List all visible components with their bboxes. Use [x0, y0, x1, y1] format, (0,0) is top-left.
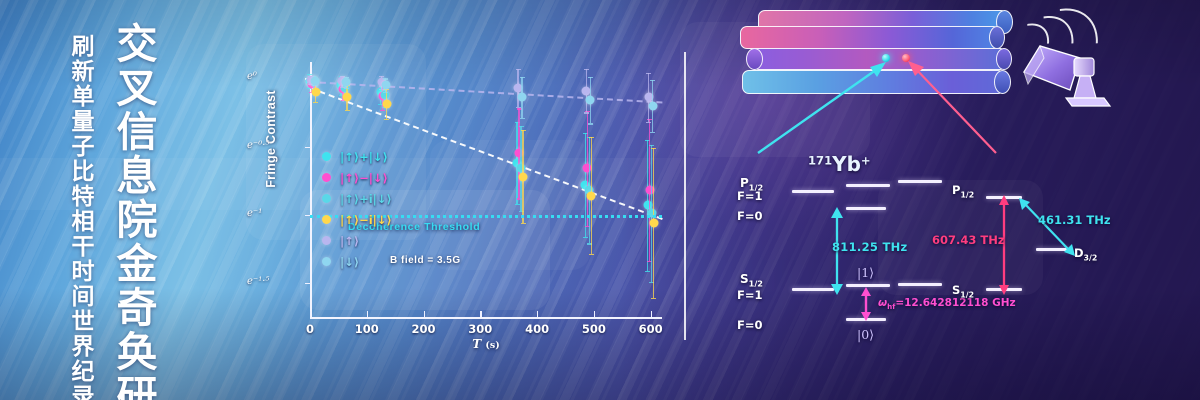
chart-error-cap [383, 92, 388, 93]
y-tick-text: e⁻⁰·⁵ [247, 140, 269, 151]
legend-marker-icon [322, 173, 331, 182]
chart-error-cap [515, 204, 520, 205]
chart-x-tick [594, 311, 595, 317]
ion-trap-panel: 171Yb+ 138Ba+ P1/2 F=1 F=0 S1/2 F=1 F=0 [700, 0, 1200, 400]
yb-hyperfine-label: ωhf=12.642812118 GHz [878, 297, 1016, 311]
legend-item[interactable]: |↑⟩−|↓⟩ [322, 167, 392, 188]
chart-data-point [587, 191, 596, 200]
chart-error-cap [650, 80, 655, 81]
chart-error-cap [589, 254, 594, 255]
chart-x-tick [310, 311, 311, 317]
yb-p-f0-level [846, 207, 886, 210]
fringe-contrast-chart: Fringe Contrast T (s) e⁰e⁻⁰·⁵e⁻¹e⁻¹·⁵ 01… [250, 40, 690, 350]
chart-error-cap [646, 122, 651, 123]
legend-marker-icon [322, 257, 331, 266]
chart-fit-line [310, 81, 662, 103]
yb-ket-one: |1⟩ [857, 265, 874, 280]
chart-data-point [382, 100, 391, 109]
chart-error-cap [651, 298, 656, 299]
chart-error-cap [519, 126, 524, 127]
chart-x-tick-label: 400 [525, 322, 549, 336]
detector-icon [1018, 28, 1138, 118]
y-tick-text: e⁰ [247, 71, 257, 82]
chart-x-tick-label: 600 [639, 322, 663, 336]
chart-data-point [518, 93, 527, 102]
chart-error-cap [345, 110, 350, 111]
legend-marker-icon [322, 152, 331, 161]
chart-data-point [648, 101, 657, 110]
legend-item[interactable]: |↑⟩ [322, 230, 392, 251]
chart-y-tick-label: e⁻¹ [247, 208, 262, 219]
chart-error-cap [651, 148, 656, 149]
chart-x-tick [480, 311, 481, 317]
yb-p-f0-label: F=0 [737, 209, 763, 223]
legend-item[interactable]: |↑⟩+|↓⟩ [322, 146, 392, 167]
chart-data-point [342, 78, 351, 87]
chart-y-tick [305, 283, 311, 284]
chart-error-cap [516, 69, 521, 70]
legend-item-label: |↑⟩−i|↓⟩ [340, 213, 392, 227]
page-subtitle: 刷新单量子比特相干时间世界纪录 [68, 34, 91, 400]
page-title: 交叉信息院金奇奂研究组 [112, 22, 153, 400]
legend-item-label: |↑⟩ [340, 234, 359, 248]
chart-error-cap [646, 73, 651, 74]
yb-s-f1-label-2: F=1 [737, 288, 763, 302]
chart-error-cap [520, 77, 525, 78]
yb-s-sub: 1/2 [749, 278, 763, 288]
chart-error-cap [645, 271, 650, 272]
chart-error-cap [313, 102, 318, 103]
chart-error-cap [583, 237, 588, 238]
chart-y-tick [305, 147, 311, 148]
yb-p-f1-level-right [898, 180, 942, 183]
chart-error-cap [516, 107, 521, 108]
chart-y-tick-label: e⁻⁰·⁵ [247, 140, 269, 151]
chart-x-tick-label: 100 [355, 322, 379, 336]
legend-item[interactable]: |↓⟩ [322, 251, 392, 272]
chart-error-cap [584, 112, 589, 113]
legend-item[interactable]: |↑⟩−i|↓⟩ [322, 209, 392, 230]
chart-error-cap [584, 69, 589, 70]
omega-symbol: ω [878, 297, 887, 309]
yb-s-term-label: S1/2 [740, 272, 763, 288]
x-axis-symbol: T [472, 337, 481, 351]
chart-data-point [343, 93, 352, 102]
ba-pointer-arrow [900, 55, 1020, 160]
ba-607-label: 607.43 THz [932, 233, 1005, 247]
chart-error-cap [521, 223, 526, 224]
chart-x-tick-label: 0 [306, 322, 314, 336]
chart-error-cap [588, 123, 593, 124]
chart-x-tick-label: 300 [468, 322, 492, 336]
ba-p-term-label: P1/2 [952, 183, 974, 199]
yb-ket-zero: |0⟩ [857, 327, 874, 342]
chart-error-cap [520, 118, 525, 119]
yb-p-f1-level-left [792, 190, 834, 193]
yb-symbol: Yb [832, 152, 861, 176]
yb-isotope: 171 [808, 153, 832, 167]
yb-charge: + [861, 153, 871, 167]
chart-error-cap [521, 130, 526, 131]
chart-error-cap [589, 137, 594, 138]
chart-data-point [310, 77, 319, 86]
chart-legend: |↑⟩+|↓⟩|↑⟩−|↓⟩|↑⟩+i|↓⟩|↑⟩−i|↓⟩|↑⟩|↓⟩ [322, 146, 392, 272]
chart-data-point [519, 172, 528, 181]
y-tick-text: e⁻¹ [247, 208, 262, 219]
legend-marker-icon [322, 236, 331, 245]
yb-p-f1-level-mid [846, 184, 890, 187]
chart-x-tick-label: 500 [582, 322, 606, 336]
ion-pointer-arrows [740, 55, 910, 160]
panel-divider [684, 52, 686, 340]
legend-item-label: |↑⟩+|↓⟩ [340, 150, 388, 164]
legend-item[interactable]: |↑⟩+i|↓⟩ [322, 188, 392, 209]
chart-data-point [649, 218, 658, 227]
chart-y-axis [310, 62, 312, 317]
chart-data-point [311, 88, 320, 97]
yb-s-f1-level-right [898, 283, 942, 286]
ba-d-sub: 3/2 [1084, 253, 1098, 262]
chart-y-tick-label: e⁻¹·⁵ [247, 276, 269, 287]
trap-rod-top-front [740, 26, 1000, 49]
b-field-annotation: B field = 3.5G [390, 255, 461, 266]
chart-error-cap [650, 132, 655, 133]
chart-error-cap [380, 110, 385, 111]
yb-hyperfine-arrow [858, 286, 874, 322]
chart-data-point [381, 81, 390, 90]
chart-error-cap [379, 76, 384, 77]
yb-s-f0-label-2: F=0 [737, 318, 763, 332]
legend-item-label: |↑⟩+i|↓⟩ [340, 192, 392, 206]
chart-x-tick [651, 311, 652, 317]
y-tick-text: e⁻¹·⁵ [247, 276, 269, 287]
legend-item-label: |↓⟩ [340, 255, 359, 269]
chart-y-tick-label: e⁰ [247, 71, 257, 82]
chart-error-cap [588, 77, 593, 78]
chart-x-axis [310, 317, 662, 319]
chart-error-cap [383, 78, 388, 79]
yb-811-label: 811.25 THz [832, 240, 908, 254]
legend-item-label: |↑⟩−|↓⟩ [340, 171, 388, 185]
legend-marker-icon [322, 215, 331, 224]
chart-error-cap [649, 145, 654, 146]
chart-error-cap [384, 119, 389, 120]
ba-461-transition-arrow [1016, 196, 1078, 258]
x-axis-unit: (s) [485, 340, 499, 351]
chart-data-point [586, 96, 595, 105]
chart-error-cap [344, 88, 349, 89]
chart-x-tick [537, 311, 538, 317]
banner-root: 交叉信息院金奇奂研究组 刷新单量子比特相干时间世界纪录 Fringe Contr… [0, 0, 1200, 400]
ba-p-sub: 1/2 [960, 190, 974, 199]
yb-species-label: 171Yb+ [808, 152, 871, 176]
ba-s-sub: 1/2 [960, 290, 974, 299]
chart-x-axis-title: T (s) [472, 337, 499, 351]
ba-s-term-label: S1/2 [952, 283, 974, 299]
ba-461-label: 461.31 THz [1038, 213, 1111, 227]
chart-x-tick-label: 200 [411, 322, 435, 336]
chart-x-tick [424, 311, 425, 317]
chart-x-tick [367, 311, 368, 317]
legend-marker-icon [322, 194, 331, 203]
yb-p-f1-label: F=1 [737, 189, 763, 203]
